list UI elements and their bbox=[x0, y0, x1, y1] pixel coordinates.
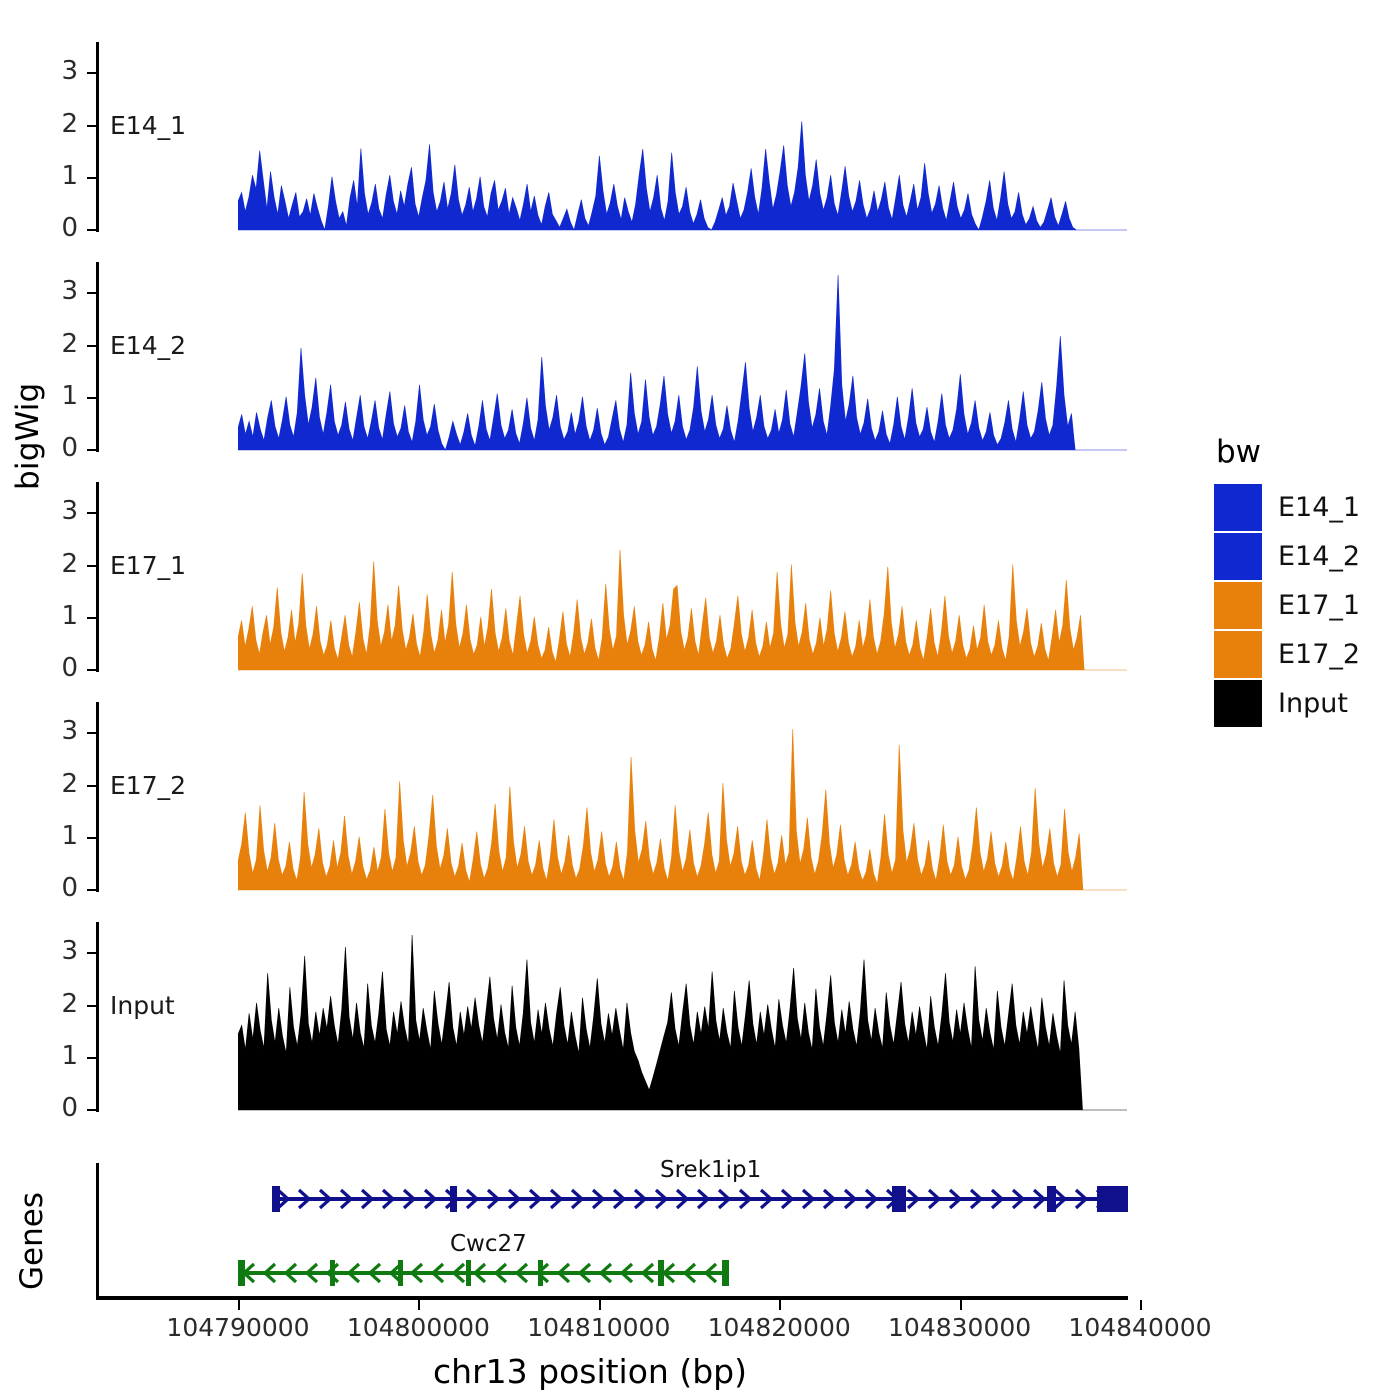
genes-axis-line bbox=[96, 1163, 99, 1296]
y-tick bbox=[87, 449, 96, 451]
legend-title: bw bbox=[1216, 434, 1360, 470]
y-tick-label: 3 bbox=[38, 936, 78, 966]
track-label-e17_1: E17_1 bbox=[110, 551, 186, 580]
y-tick-label: 0 bbox=[38, 213, 78, 243]
y-tick bbox=[87, 177, 96, 179]
legend-label: E17_1 bbox=[1278, 590, 1360, 621]
y-tick bbox=[87, 292, 96, 294]
y-tick bbox=[87, 617, 96, 619]
y-tick-label: 3 bbox=[38, 276, 78, 306]
y-tick bbox=[87, 1005, 96, 1007]
y-tick bbox=[87, 952, 96, 954]
y-tick bbox=[87, 1109, 96, 1111]
legend-label: E17_2 bbox=[1278, 639, 1360, 670]
signal-track-e14_1 bbox=[238, 42, 1127, 231]
x-tick bbox=[238, 1300, 240, 1310]
legend-label: Input bbox=[1278, 688, 1348, 719]
gene-track-cwc27[interactable] bbox=[238, 1250, 729, 1300]
y-tick-label: 2 bbox=[38, 109, 78, 139]
legend-item-e17_2[interactable]: E17_2 bbox=[1214, 630, 1360, 679]
y-tick-label: 3 bbox=[38, 56, 78, 86]
x-tick bbox=[960, 1300, 962, 1310]
y-tick bbox=[87, 512, 96, 514]
genes-axis-title: Genes bbox=[14, 1192, 50, 1290]
y-tick-label: 1 bbox=[38, 381, 78, 411]
track-label-e17_2: E17_2 bbox=[110, 771, 186, 800]
y-tick-label: 0 bbox=[38, 1093, 78, 1123]
gene-track-srek1ip1[interactable] bbox=[272, 1176, 1128, 1226]
x-tick-label: 104840000 bbox=[1030, 1313, 1250, 1342]
x-tick bbox=[1140, 1300, 1142, 1310]
y-axis-line-input bbox=[96, 922, 99, 1112]
y-tick bbox=[87, 72, 96, 74]
y-axis-line-e17_2 bbox=[96, 702, 99, 892]
legend: bw E14_1E14_2E17_1E17_2Input bbox=[1214, 434, 1360, 728]
y-tick-label: 2 bbox=[38, 769, 78, 799]
legend-item-e17_1[interactable]: E17_1 bbox=[1214, 581, 1360, 630]
y-tick-label: 0 bbox=[38, 433, 78, 463]
y-tick-label: 1 bbox=[38, 1041, 78, 1071]
legend-items: E14_1E14_2E17_1E17_2Input bbox=[1214, 483, 1360, 728]
x-axis-line bbox=[96, 1296, 1128, 1300]
gene-label-srek1ip1: Srek1ip1 bbox=[660, 1157, 761, 1183]
legend-swatch-e14_1 bbox=[1214, 484, 1262, 531]
y-axis-line-e17_1 bbox=[96, 482, 99, 672]
signal-track-e17_1 bbox=[238, 482, 1127, 671]
y-tick bbox=[87, 732, 96, 734]
legend-label: E14_1 bbox=[1278, 492, 1360, 523]
legend-swatch-e17_2 bbox=[1214, 631, 1262, 678]
y-tick bbox=[87, 125, 96, 127]
y-tick-label: 2 bbox=[38, 989, 78, 1019]
y-tick bbox=[87, 397, 96, 399]
y-tick bbox=[87, 229, 96, 231]
x-tick bbox=[599, 1300, 601, 1310]
legend-item-e14_2[interactable]: E14_2 bbox=[1214, 532, 1360, 581]
legend-label: E14_2 bbox=[1278, 541, 1360, 572]
y-tick bbox=[87, 837, 96, 839]
y-tick-label: 1 bbox=[38, 821, 78, 851]
x-tick bbox=[779, 1300, 781, 1310]
y-tick-label: 3 bbox=[38, 716, 78, 746]
y-tick-label: 2 bbox=[38, 549, 78, 579]
signal-track-e14_2 bbox=[238, 262, 1127, 451]
y-tick bbox=[87, 1057, 96, 1059]
y-tick-label: 3 bbox=[38, 496, 78, 526]
x-tick bbox=[418, 1300, 420, 1310]
y-tick-label: 1 bbox=[38, 601, 78, 631]
legend-swatch-e17_1 bbox=[1214, 582, 1262, 629]
y-axis-line-e14_2 bbox=[96, 262, 99, 452]
track-label-e14_2: E14_2 bbox=[110, 331, 186, 360]
legend-swatch-e14_2 bbox=[1214, 533, 1262, 580]
y-tick-label: 0 bbox=[38, 653, 78, 683]
y-tick-label: 2 bbox=[38, 329, 78, 359]
y-tick bbox=[87, 785, 96, 787]
y-tick-label: 0 bbox=[38, 873, 78, 903]
track-label-input: Input bbox=[110, 991, 175, 1020]
signal-track-input bbox=[238, 922, 1127, 1111]
y-axis-line-e14_1 bbox=[96, 42, 99, 232]
track-label-e14_1: E14_1 bbox=[110, 111, 186, 140]
y-tick bbox=[87, 889, 96, 891]
signal-track-e17_2 bbox=[238, 702, 1127, 891]
x-axis-title: chr13 position (bp) bbox=[0, 1352, 1180, 1391]
y-tick bbox=[87, 565, 96, 567]
y-tick bbox=[87, 669, 96, 671]
y-tick bbox=[87, 345, 96, 347]
legend-item-e14_1[interactable]: E14_1 bbox=[1214, 483, 1360, 532]
legend-item-input[interactable]: Input bbox=[1214, 679, 1360, 728]
legend-swatch-input bbox=[1214, 680, 1262, 727]
gene-label-cwc27: Cwc27 bbox=[450, 1231, 527, 1257]
y-tick-label: 1 bbox=[38, 161, 78, 191]
